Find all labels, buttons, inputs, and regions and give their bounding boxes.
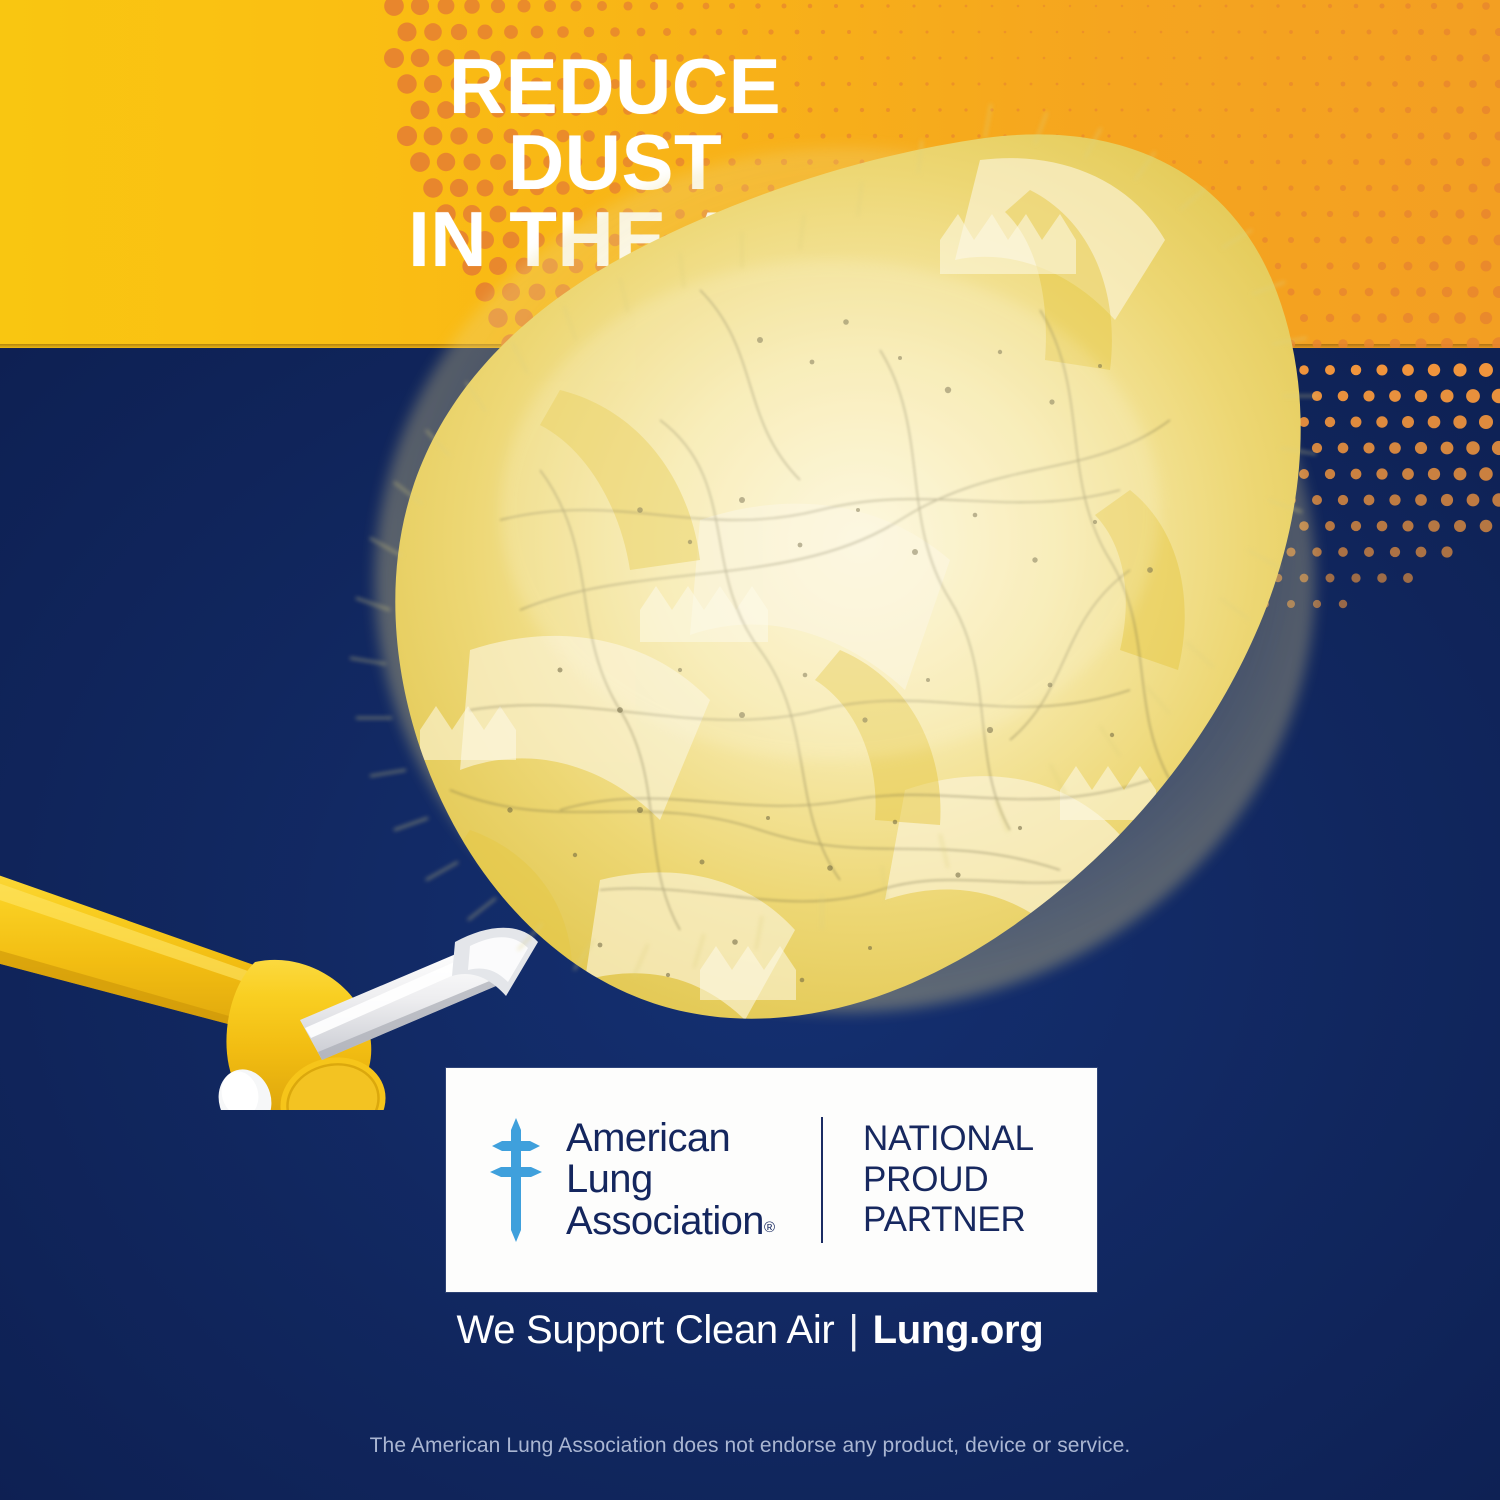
logo-divider <box>821 1117 823 1243</box>
ala-wordmark: American Lung Association® <box>566 1118 775 1242</box>
advertisement-canvas: REDUCE DUST IN THE AIR <box>0 0 1500 1500</box>
tagline-separator: | <box>834 1308 872 1352</box>
american-lung-association-lockup: American Lung Association® <box>488 1116 775 1244</box>
tagline: We Support Clean Air|Lung.org <box>0 1308 1500 1353</box>
partner-line-3: PARTNER <box>863 1200 1034 1241</box>
ala-word-line-2: Lung <box>566 1159 775 1200</box>
partner-logo-card: American Lung Association® NATIONAL PROU… <box>446 1068 1097 1292</box>
ala-word-line-3-text: Association <box>566 1199 764 1243</box>
national-proud-partner-text: NATIONAL PROUD PARTNER <box>863 1119 1034 1241</box>
feather-duster-product-image <box>0 90 1500 1110</box>
duster-handle <box>0 865 395 1110</box>
ala-word-line-3: Association® <box>566 1201 775 1242</box>
duster-head <box>330 100 1350 1060</box>
tagline-support-text: We Support Clean Air <box>457 1308 835 1352</box>
disclaimer-text: The American Lung Association does not e… <box>0 1434 1500 1458</box>
lung-org-url[interactable]: Lung.org <box>873 1308 1044 1352</box>
registered-trademark-icon: ® <box>764 1218 775 1235</box>
partner-line-2: PROUD <box>863 1160 1034 1201</box>
ala-word-line-1: American <box>566 1118 775 1159</box>
partner-line-1: NATIONAL <box>863 1119 1034 1160</box>
lorraine-cross-icon <box>488 1116 544 1244</box>
